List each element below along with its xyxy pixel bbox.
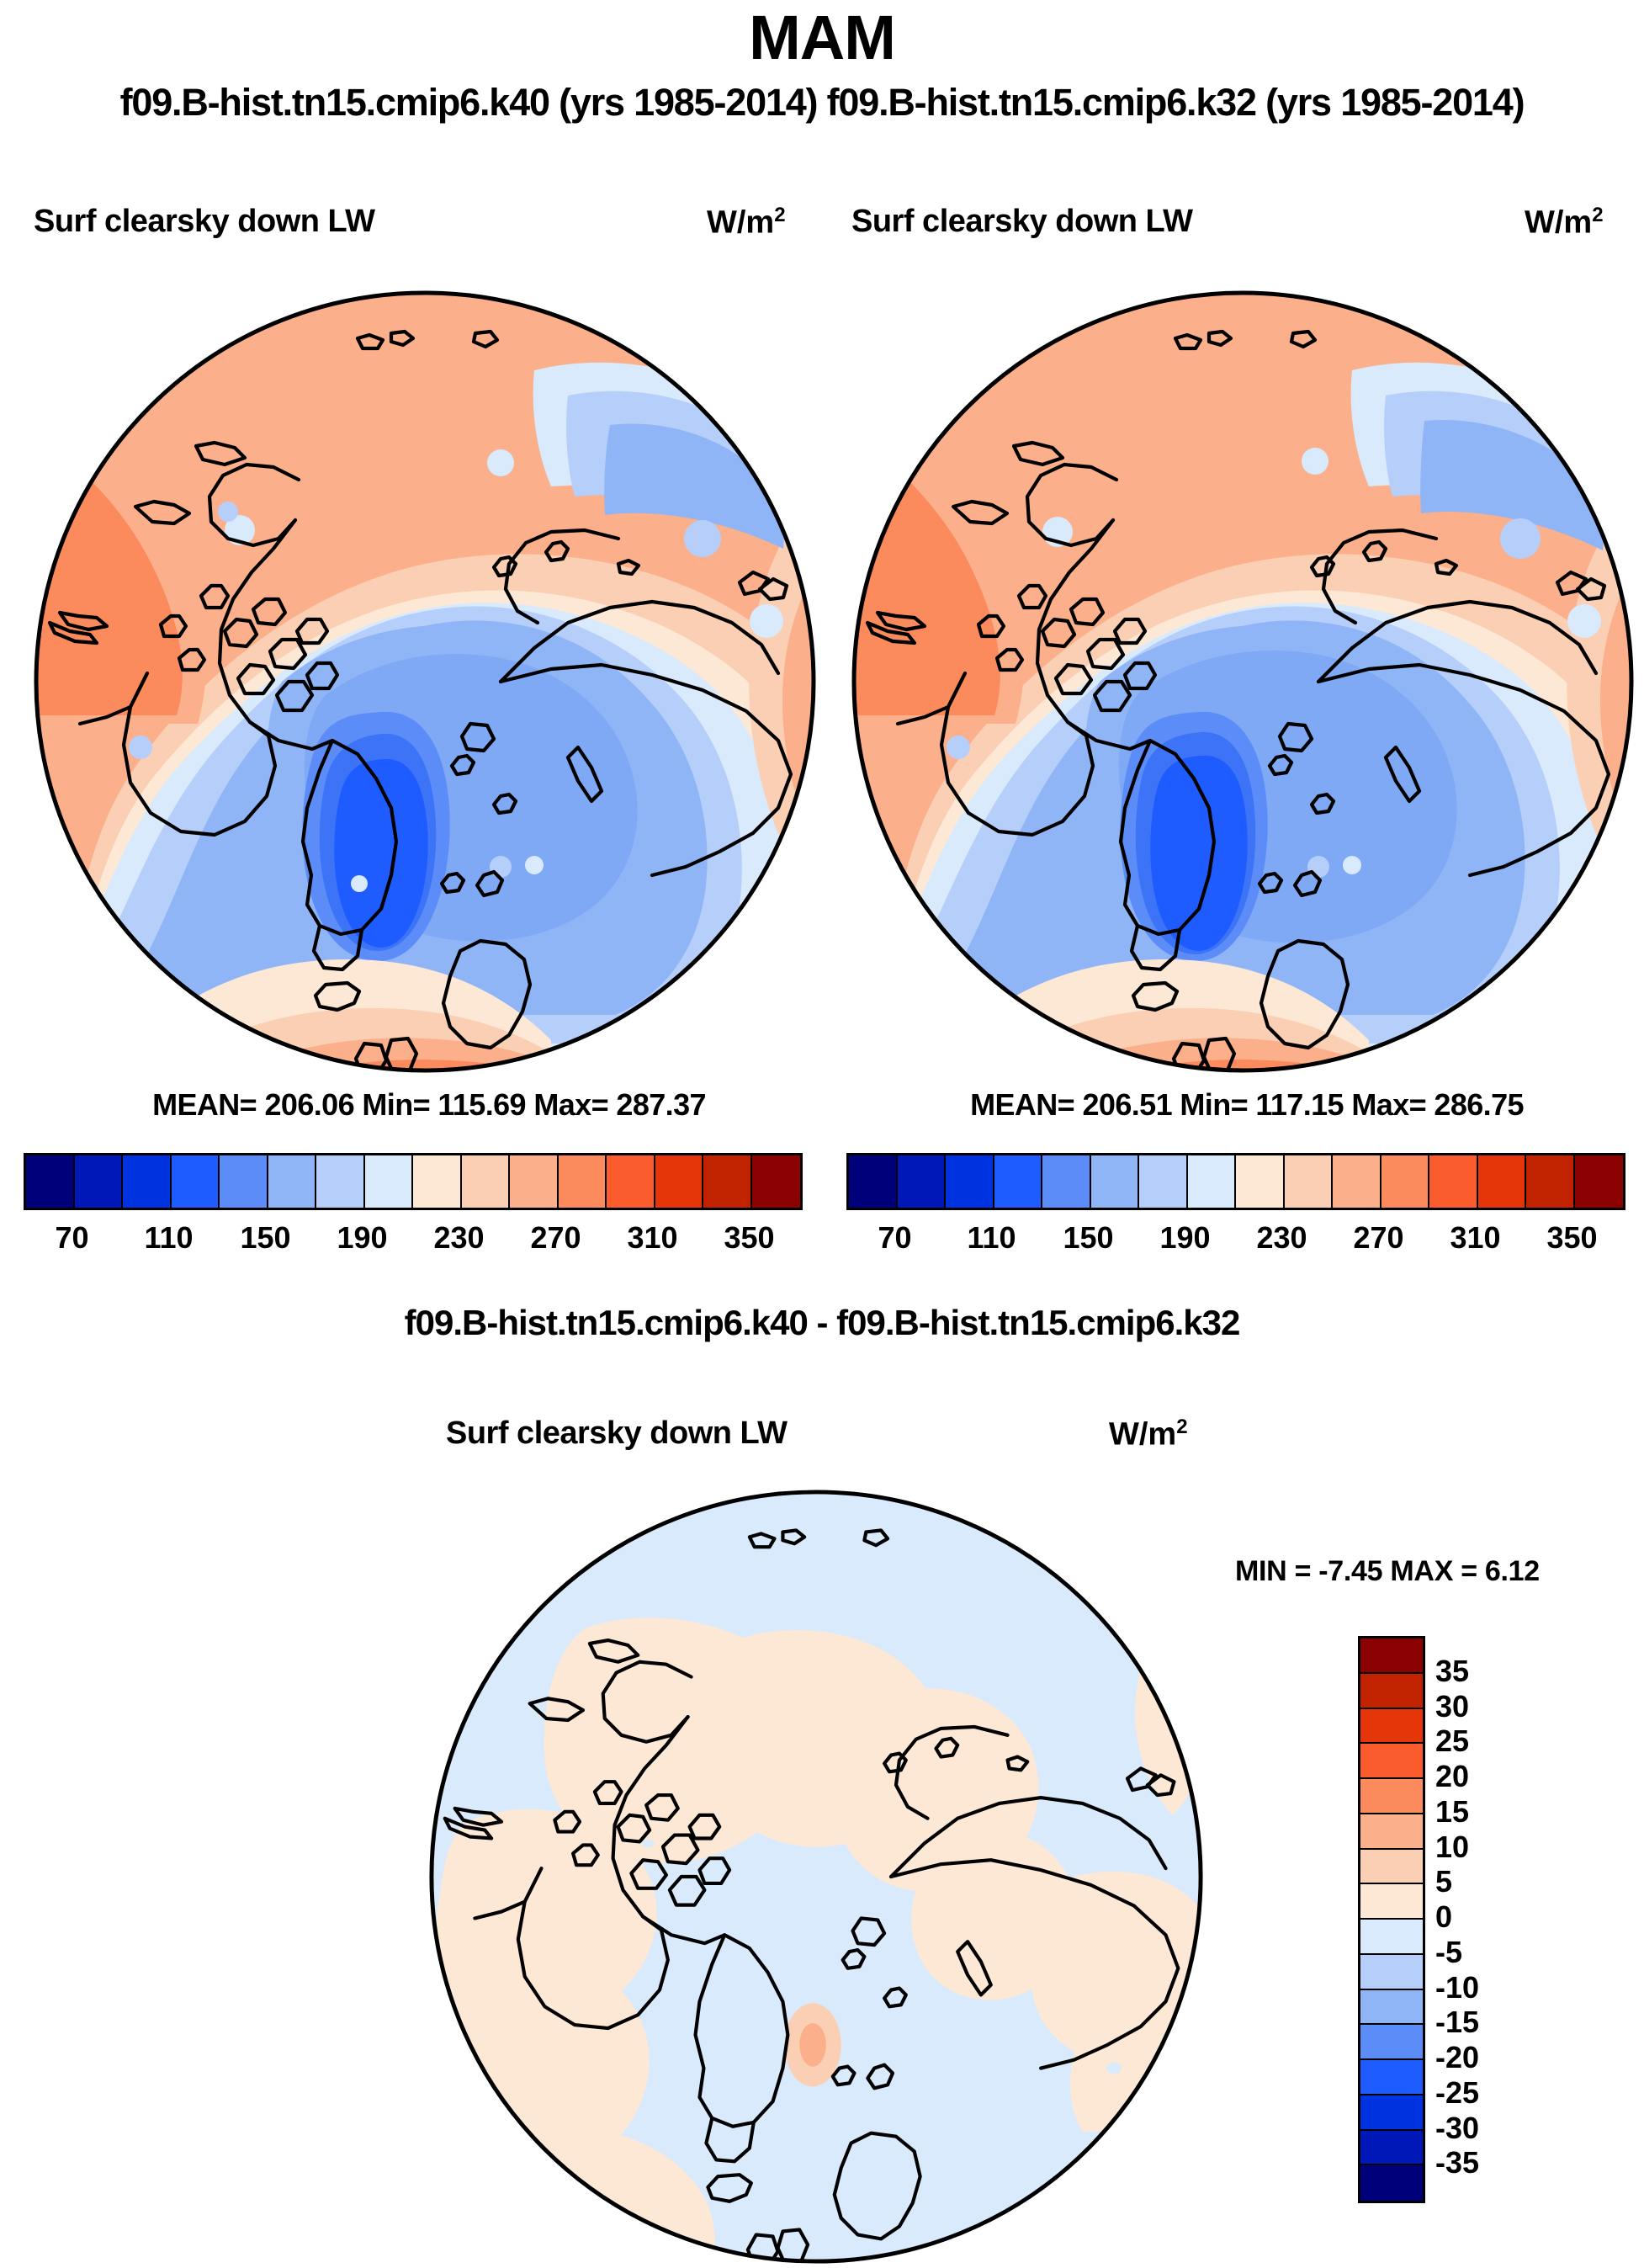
panel-diff-units-exponent: 2 [1176, 1416, 1187, 1438]
panel-diff-units-text: W/m [1109, 1417, 1176, 1453]
colorbar-tick-label: 5 [1435, 1864, 1452, 1899]
map-left[interactable] [29, 286, 820, 1077]
colorbar-cell [413, 1155, 462, 1208]
colorbar-cell [1360, 1674, 1423, 1709]
panel-left-variable-label: Surf clearsky down LW [34, 204, 375, 240]
colorbar-cell [1360, 1955, 1423, 1990]
colorbar-tick-label: 15 [1435, 1794, 1469, 1830]
colorbar-right[interactable] [846, 1153, 1625, 1210]
panel-left-units-exponent: 2 [774, 204, 785, 226]
colorbar-tick-label: 25 [1435, 1724, 1469, 1759]
colorbar-cell [1360, 1744, 1423, 1779]
colorbar-cell [1188, 1155, 1237, 1208]
difference-minmax: MIN = -7.45 MAX = 6.12 [1235, 1555, 1540, 1588]
colorbar-difference[interactable] [1358, 1636, 1425, 2203]
colorbar-cell [1360, 2060, 1423, 2095]
colorbar-tick-label: 150 [1063, 1220, 1113, 1256]
colorbar-tick-label: -20 [1435, 2040, 1479, 2075]
colorbar-tick-label: 70 [878, 1220, 911, 1256]
colorbar-difference-labels: 35302520151050-5-10-15-20-25-30-35 [1435, 1636, 1536, 2198]
colorbar-cell [1360, 1779, 1423, 1814]
colorbar-tick-label: 110 [967, 1220, 1016, 1256]
colorbar-cell [1360, 1639, 1423, 1674]
map-right[interactable] [847, 286, 1638, 1077]
colorbar-tick-label: 310 [627, 1220, 677, 1256]
colorbar-cell [994, 1155, 1043, 1208]
colorbar-tick-label: 270 [530, 1220, 581, 1256]
colorbar-tick-label: 0 [1435, 1899, 1452, 1935]
colorbar-cell [1360, 2025, 1423, 2060]
colorbar-cell [1360, 1709, 1423, 1745]
colorbar-tick-label: 190 [337, 1220, 387, 1256]
colorbar-cell [1360, 1814, 1423, 1850]
colorbar-tick-label: 350 [1546, 1220, 1597, 1256]
panel-right-units-text: W/m [1525, 205, 1592, 241]
colorbar-cell [75, 1155, 124, 1208]
colorbar-tick-label: -35 [1435, 2145, 1479, 2180]
colorbar-tick-label: -5 [1435, 1935, 1462, 1970]
colorbar-cell [1478, 1155, 1527, 1208]
colorbar-cell [898, 1155, 947, 1208]
colorbar-cell [1575, 1155, 1624, 1208]
panel-right-units-exponent: 2 [1592, 204, 1603, 226]
colorbar-cell [1139, 1155, 1188, 1208]
colorbar-cell [220, 1155, 268, 1208]
colorbar-cell [1360, 1884, 1423, 1920]
colorbar-tick-label: 20 [1435, 1759, 1469, 1794]
colorbar-cell [1429, 1155, 1478, 1208]
colorbar-cell [1360, 1920, 1423, 1955]
panel-left-stats: MEAN= 206.06 Min= 115.69 Max= 287.37 [34, 1087, 825, 1123]
colorbar-cell [1236, 1155, 1285, 1208]
colorbar-cell [1091, 1155, 1140, 1208]
colorbar-cell [1360, 2131, 1423, 2166]
colorbar-left[interactable] [24, 1153, 803, 1210]
map-difference[interactable] [425, 1485, 1207, 2268]
colorbar-tick-label: 150 [240, 1220, 290, 1256]
colorbar-cell [1360, 2095, 1423, 2131]
colorbar-tick-label: -30 [1435, 2111, 1479, 2146]
colorbar-tick-label: 35 [1435, 1654, 1469, 1689]
figure-subtitle: f09.B-hist.tn15.cmip6.k40 (yrs 1985-2014… [0, 81, 1644, 125]
colorbar-tick-label: 270 [1353, 1220, 1403, 1256]
colorbar-cell [703, 1155, 752, 1208]
panel-diff-variable-label: Surf clearsky down LW [446, 1416, 788, 1452]
colorbar-tick-label: 10 [1435, 1830, 1469, 1865]
panel-diff-units: W/m2 [1109, 1416, 1188, 1453]
colorbar-cell [510, 1155, 559, 1208]
colorbar-cell [655, 1155, 704, 1208]
colorbar-tick-label: 110 [144, 1220, 193, 1256]
colorbar-tick-label: 310 [1450, 1220, 1500, 1256]
colorbar-tick-label: 230 [433, 1220, 484, 1256]
difference-title: f09.B-hist.tn15.cmip6.k40 - f09.B-hist.t… [0, 1303, 1644, 1343]
colorbar-tick-label: 70 [55, 1220, 88, 1256]
panel-right-variable-label: Surf clearsky down LW [851, 204, 1193, 240]
colorbar-left-labels: 70110150190230270310350 [24, 1220, 798, 1262]
colorbar-cell [1042, 1155, 1091, 1208]
colorbar-tick-label: -10 [1435, 1970, 1479, 2005]
colorbar-cell [946, 1155, 994, 1208]
colorbar-tick-label: -25 [1435, 2075, 1479, 2111]
colorbar-cell [1360, 2165, 1423, 2201]
colorbar-cell [1285, 1155, 1334, 1208]
colorbar-tick-label: 190 [1159, 1220, 1210, 1256]
colorbar-right-labels: 70110150190230270310350 [846, 1220, 1620, 1262]
colorbar-cell [365, 1155, 414, 1208]
colorbar-tick-label: 230 [1256, 1220, 1307, 1256]
colorbar-cell [1526, 1155, 1575, 1208]
colorbar-cell [316, 1155, 365, 1208]
colorbar-cell [172, 1155, 220, 1208]
panel-right-stats: MEAN= 206.51 Min= 117.15 Max= 286.75 [851, 1087, 1642, 1123]
colorbar-cell [462, 1155, 511, 1208]
colorbar-cell [1360, 1850, 1423, 1885]
colorbar-cell [559, 1155, 607, 1208]
panel-left-units-text: W/m [707, 205, 774, 241]
colorbar-cell [123, 1155, 172, 1208]
colorbar-tick-label: 350 [724, 1220, 774, 1256]
colorbar-cell [607, 1155, 655, 1208]
page-title: MAM [0, 2, 1644, 73]
colorbar-cell [26, 1155, 75, 1208]
colorbar-tick-label: 30 [1435, 1689, 1469, 1724]
colorbar-cell [1333, 1155, 1381, 1208]
colorbar-cell [268, 1155, 317, 1208]
colorbar-cell [849, 1155, 898, 1208]
colorbar-cell [1381, 1155, 1430, 1208]
colorbar-tick-label: -15 [1435, 2005, 1479, 2040]
panel-left-units: W/m2 [707, 204, 786, 242]
panel-right-units: W/m2 [1525, 204, 1604, 242]
colorbar-cell [752, 1155, 801, 1208]
colorbar-cell [1360, 1990, 1423, 2026]
